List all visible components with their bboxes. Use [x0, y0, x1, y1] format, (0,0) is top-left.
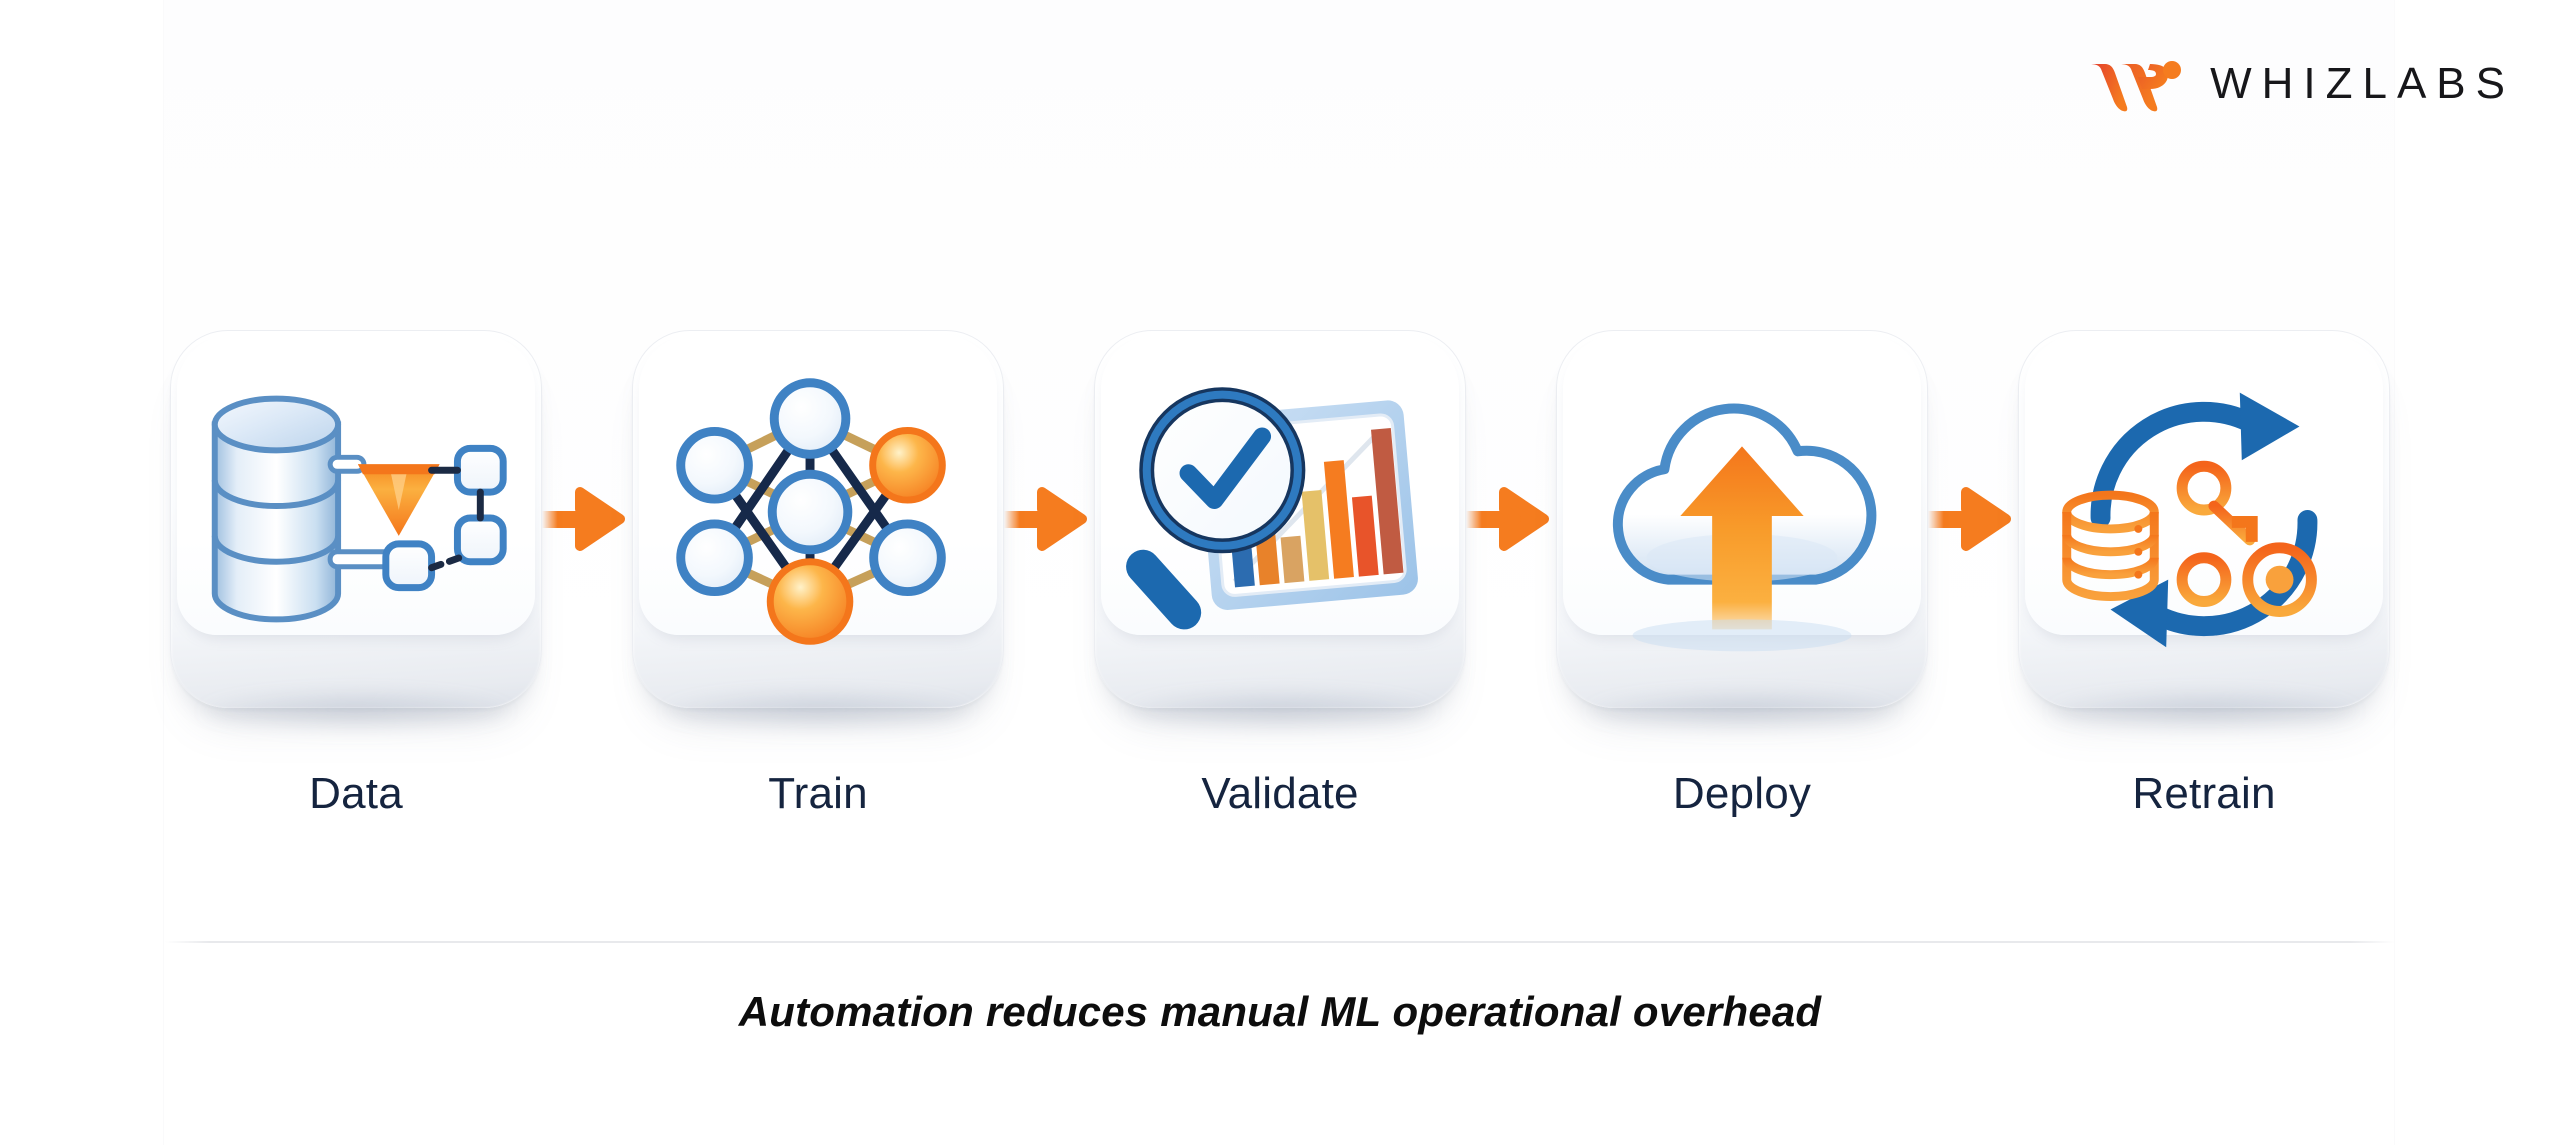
pipeline-stage-retrain[interactable]: Retrain	[2018, 330, 2390, 816]
connector-train-to-validate	[1004, 330, 1094, 708]
pipeline-stage-data[interactable]: Data	[170, 330, 542, 816]
stage-label-deploy: Deploy	[1673, 772, 1811, 816]
ml-pipeline-row: Data	[0, 330, 2560, 816]
refresh-cycle-icon	[2019, 331, 2389, 707]
arrow-right-icon	[542, 484, 632, 554]
pipeline-stage-validate[interactable]: Validate	[1094, 330, 1466, 816]
stage-label-retrain: Retrain	[2132, 772, 2275, 816]
stage-label-data: Data	[309, 772, 403, 816]
stage-card-train[interactable]	[632, 330, 1004, 708]
cloud-upload-icon	[1557, 331, 1927, 707]
stage-label-train: Train	[768, 772, 868, 816]
stage-card-validate[interactable]	[1094, 330, 1466, 708]
arrow-right-icon	[1928, 484, 2018, 554]
stage-card-deploy[interactable]	[1556, 330, 1928, 708]
pipeline-stage-deploy[interactable]: Deploy	[1556, 330, 1928, 816]
brand-wordmark: WHIZLABS	[2210, 62, 2515, 106]
database-funnel-icon	[171, 331, 541, 707]
stage-card-data[interactable]	[170, 330, 542, 708]
stage-label-validate: Validate	[1201, 772, 1358, 816]
caption-text: Automation reduces manual ML operational…	[0, 988, 2560, 1036]
brand-logo: WHIZLABS	[2088, 55, 2515, 113]
connector-validate-to-deploy	[1466, 330, 1556, 708]
neural-network-icon	[633, 331, 1003, 707]
arrow-right-icon	[1004, 484, 1094, 554]
connector-deploy-to-retrain	[1928, 330, 2018, 708]
connector-data-to-train	[542, 330, 632, 708]
arrow-right-icon	[1466, 484, 1556, 554]
section-divider	[165, 941, 2395, 943]
stage-card-retrain[interactable]	[2018, 330, 2390, 708]
whizlabs-w-mark-icon	[2088, 55, 2184, 113]
magnifier-chart-icon	[1095, 331, 1465, 707]
pipeline-stage-train[interactable]: Train	[632, 330, 1004, 816]
